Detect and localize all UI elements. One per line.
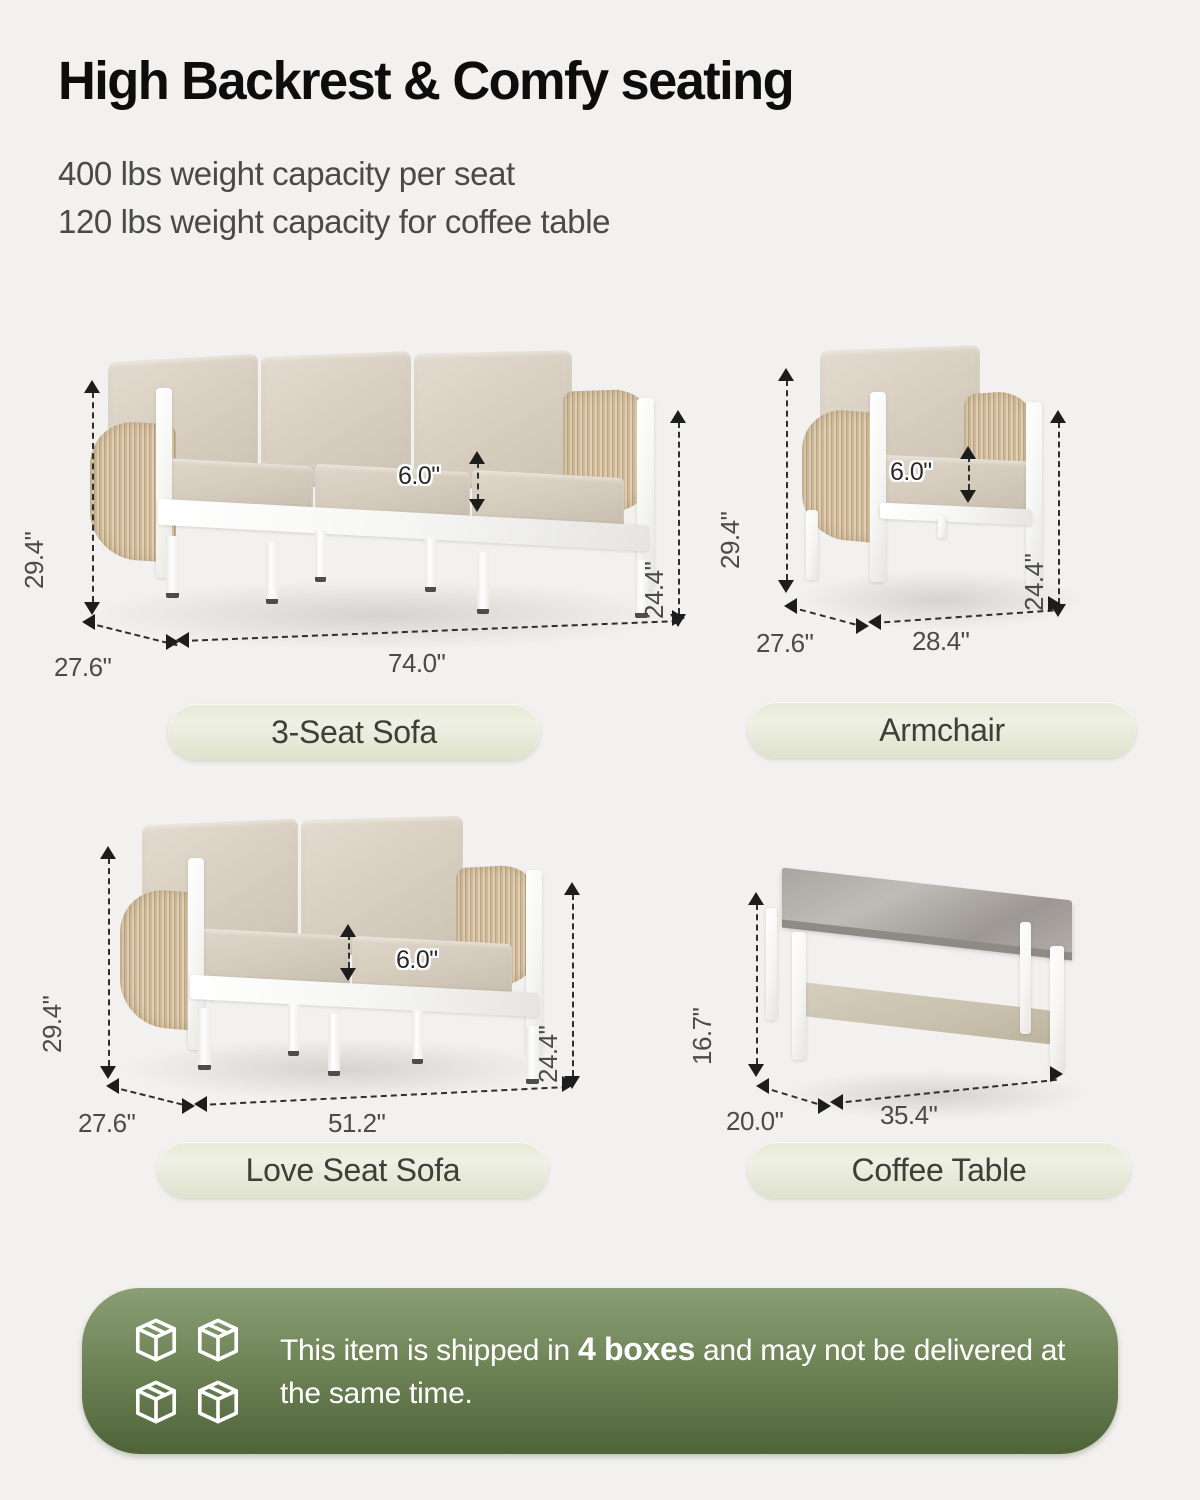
dim-arrow-height-top — [748, 892, 764, 905]
subtitle-weight-capacity-seat: 400 lbs weight capacity per seat — [58, 150, 1148, 198]
dim-label-depth: 20.0" — [726, 1106, 783, 1137]
dim-line-cushion — [968, 456, 970, 490]
dim-arrow-cushion-bottom — [340, 968, 356, 981]
dim-arrow-seat-top — [564, 882, 580, 895]
dim-arrow-depth-start — [756, 1078, 769, 1094]
box-icon-group — [128, 1312, 246, 1430]
product-figure-love-seat-sofa: 29.4" 24.4" 6.0" 27.6" 51.2" — [60, 800, 640, 1150]
dim-line-cushion — [477, 462, 479, 500]
sofa-leg-5 — [477, 552, 489, 614]
loveseat-leg-2 — [288, 1004, 299, 1056]
dim-label-height: 29.4" — [715, 512, 746, 569]
package-box-icon — [128, 1312, 184, 1368]
dim-line-seat-height — [1058, 422, 1060, 604]
dim-arrow-cushion-bottom — [960, 490, 976, 503]
header-block: High Backrest & Comfy seating 400 lbs we… — [58, 52, 1148, 246]
frame-post-back-left — [806, 510, 818, 580]
dim-label-seat-height: 24.4" — [533, 1026, 564, 1083]
dim-arrow-cushion-top — [960, 446, 976, 459]
dim-line-height — [92, 392, 94, 602]
product-label-text: 3-Seat Sofa — [271, 714, 437, 751]
dim-label-depth: 27.6" — [54, 652, 111, 683]
sofa-illustration — [30, 330, 690, 710]
package-box-icon — [190, 1312, 246, 1368]
product-figure-coffee-table: 16.7" 20.0" 35.4" — [720, 870, 1140, 1150]
dim-line-height — [756, 904, 758, 1064]
product-label-text: Love Seat Sofa — [246, 1152, 461, 1189]
dim-arrow-seat-top — [1050, 410, 1066, 423]
product-label-coffee-table[interactable]: Coffee Table — [748, 1142, 1130, 1198]
sofa-leg-1 — [166, 536, 179, 598]
dim-arrow-depth-start — [106, 1078, 119, 1094]
dim-line-seat-height — [572, 894, 574, 1076]
sofa-leg-2 — [266, 542, 278, 604]
dim-label-cushion-thickness: 6.0" — [398, 462, 440, 491]
dim-label-cushion-thickness: 6.0" — [396, 946, 438, 975]
dim-arrow-width-start — [830, 1094, 843, 1110]
loveseat-leg-3 — [328, 1014, 340, 1076]
dim-arrow-width-start — [194, 1096, 207, 1112]
dim-arrow-seat-top — [670, 410, 686, 423]
product-label-armchair[interactable]: Armchair — [748, 702, 1136, 758]
dim-arrow-height-top — [778, 368, 794, 381]
dim-label-depth: 27.6" — [756, 628, 813, 659]
product-label-text: Armchair — [879, 712, 1005, 749]
loveseat-leg-1 — [198, 1008, 211, 1070]
sofa-leg-3 — [315, 530, 326, 582]
dim-label-height: 16.7" — [687, 1008, 718, 1065]
dim-arrow-height-bottom — [748, 1064, 764, 1077]
dim-arrow-depth-start — [82, 614, 95, 630]
table-leg-front-left — [792, 932, 806, 1060]
package-box-icon — [128, 1374, 184, 1430]
dim-arrow-width-end — [562, 1076, 575, 1092]
dim-label-width: 74.0" — [388, 648, 445, 679]
dim-arrow-cushion-top — [340, 924, 356, 937]
table-lower-shelf — [798, 982, 1050, 1045]
dim-line-cushion — [348, 934, 350, 968]
shipping-banner-text: This item is shipped in 4 boxes and may … — [280, 1327, 1070, 1415]
sofa-leg-4 — [425, 538, 436, 592]
table-leg-front-right — [1050, 946, 1064, 1072]
product-label-text: Coffee Table — [852, 1152, 1027, 1189]
center-support — [938, 516, 946, 538]
package-box-icon — [190, 1374, 246, 1430]
table-leg-back-left — [766, 908, 777, 1020]
dim-arrow-height-top — [84, 380, 100, 393]
dim-arrow-width-end — [672, 610, 685, 626]
dim-line-seat-height — [678, 422, 680, 614]
shipping-box-count-highlight: 4 boxes — [578, 1331, 695, 1367]
dim-label-width: 28.4" — [912, 626, 969, 657]
dim-arrow-width-end — [1050, 1066, 1063, 1082]
dim-arrow-cushion-top — [469, 451, 485, 464]
dim-arrow-height-top — [100, 846, 116, 859]
dim-label-width: 35.4" — [880, 1100, 937, 1131]
dim-arrow-width-start — [176, 632, 189, 648]
dim-label-width: 51.2" — [328, 1108, 385, 1139]
dim-line-height — [786, 380, 788, 580]
product-label-love-seat-sofa[interactable]: Love Seat Sofa — [158, 1142, 548, 1198]
dim-label-seat-height: 24.4" — [639, 562, 670, 619]
dim-arrow-height-bottom — [778, 580, 794, 593]
dim-arrow-width-start — [868, 614, 881, 630]
frame-post-front-left — [870, 392, 886, 582]
shipping-text-before: This item is shipped in — [280, 1334, 578, 1367]
product-label-three-seat-sofa[interactable]: 3-Seat Sofa — [168, 704, 540, 760]
dim-arrow-cushion-bottom — [469, 499, 485, 512]
table-leg-back-right — [1020, 922, 1031, 1034]
dim-arrow-width-end — [1048, 596, 1061, 612]
dim-label-height: 29.4" — [19, 532, 50, 589]
page-title: High Backrest & Comfy seating — [58, 52, 1115, 110]
dim-arrow-depth-start — [784, 598, 797, 614]
shipping-info-banner: This item is shipped in 4 boxes and may … — [82, 1288, 1118, 1454]
subtitle-weight-capacity-table: 120 lbs weight capacity for coffee table — [58, 198, 1148, 246]
dim-label-seat-height: 24.4" — [1019, 554, 1050, 611]
product-figure-armchair: 29.4" 24.4" 6.0" 27.6" 28.4" — [740, 330, 1160, 710]
dim-label-height: 29.4" — [37, 996, 68, 1053]
dim-label-depth: 27.6" — [78, 1108, 135, 1139]
product-figure-three-seat-sofa: 29.4" 24.4" 6.0" 27.6" 74.0" — [30, 330, 690, 710]
dim-line-height — [108, 858, 110, 1066]
dim-label-cushion-thickness: 6.0" — [890, 458, 932, 487]
loveseat-leg-4 — [412, 1010, 423, 1064]
